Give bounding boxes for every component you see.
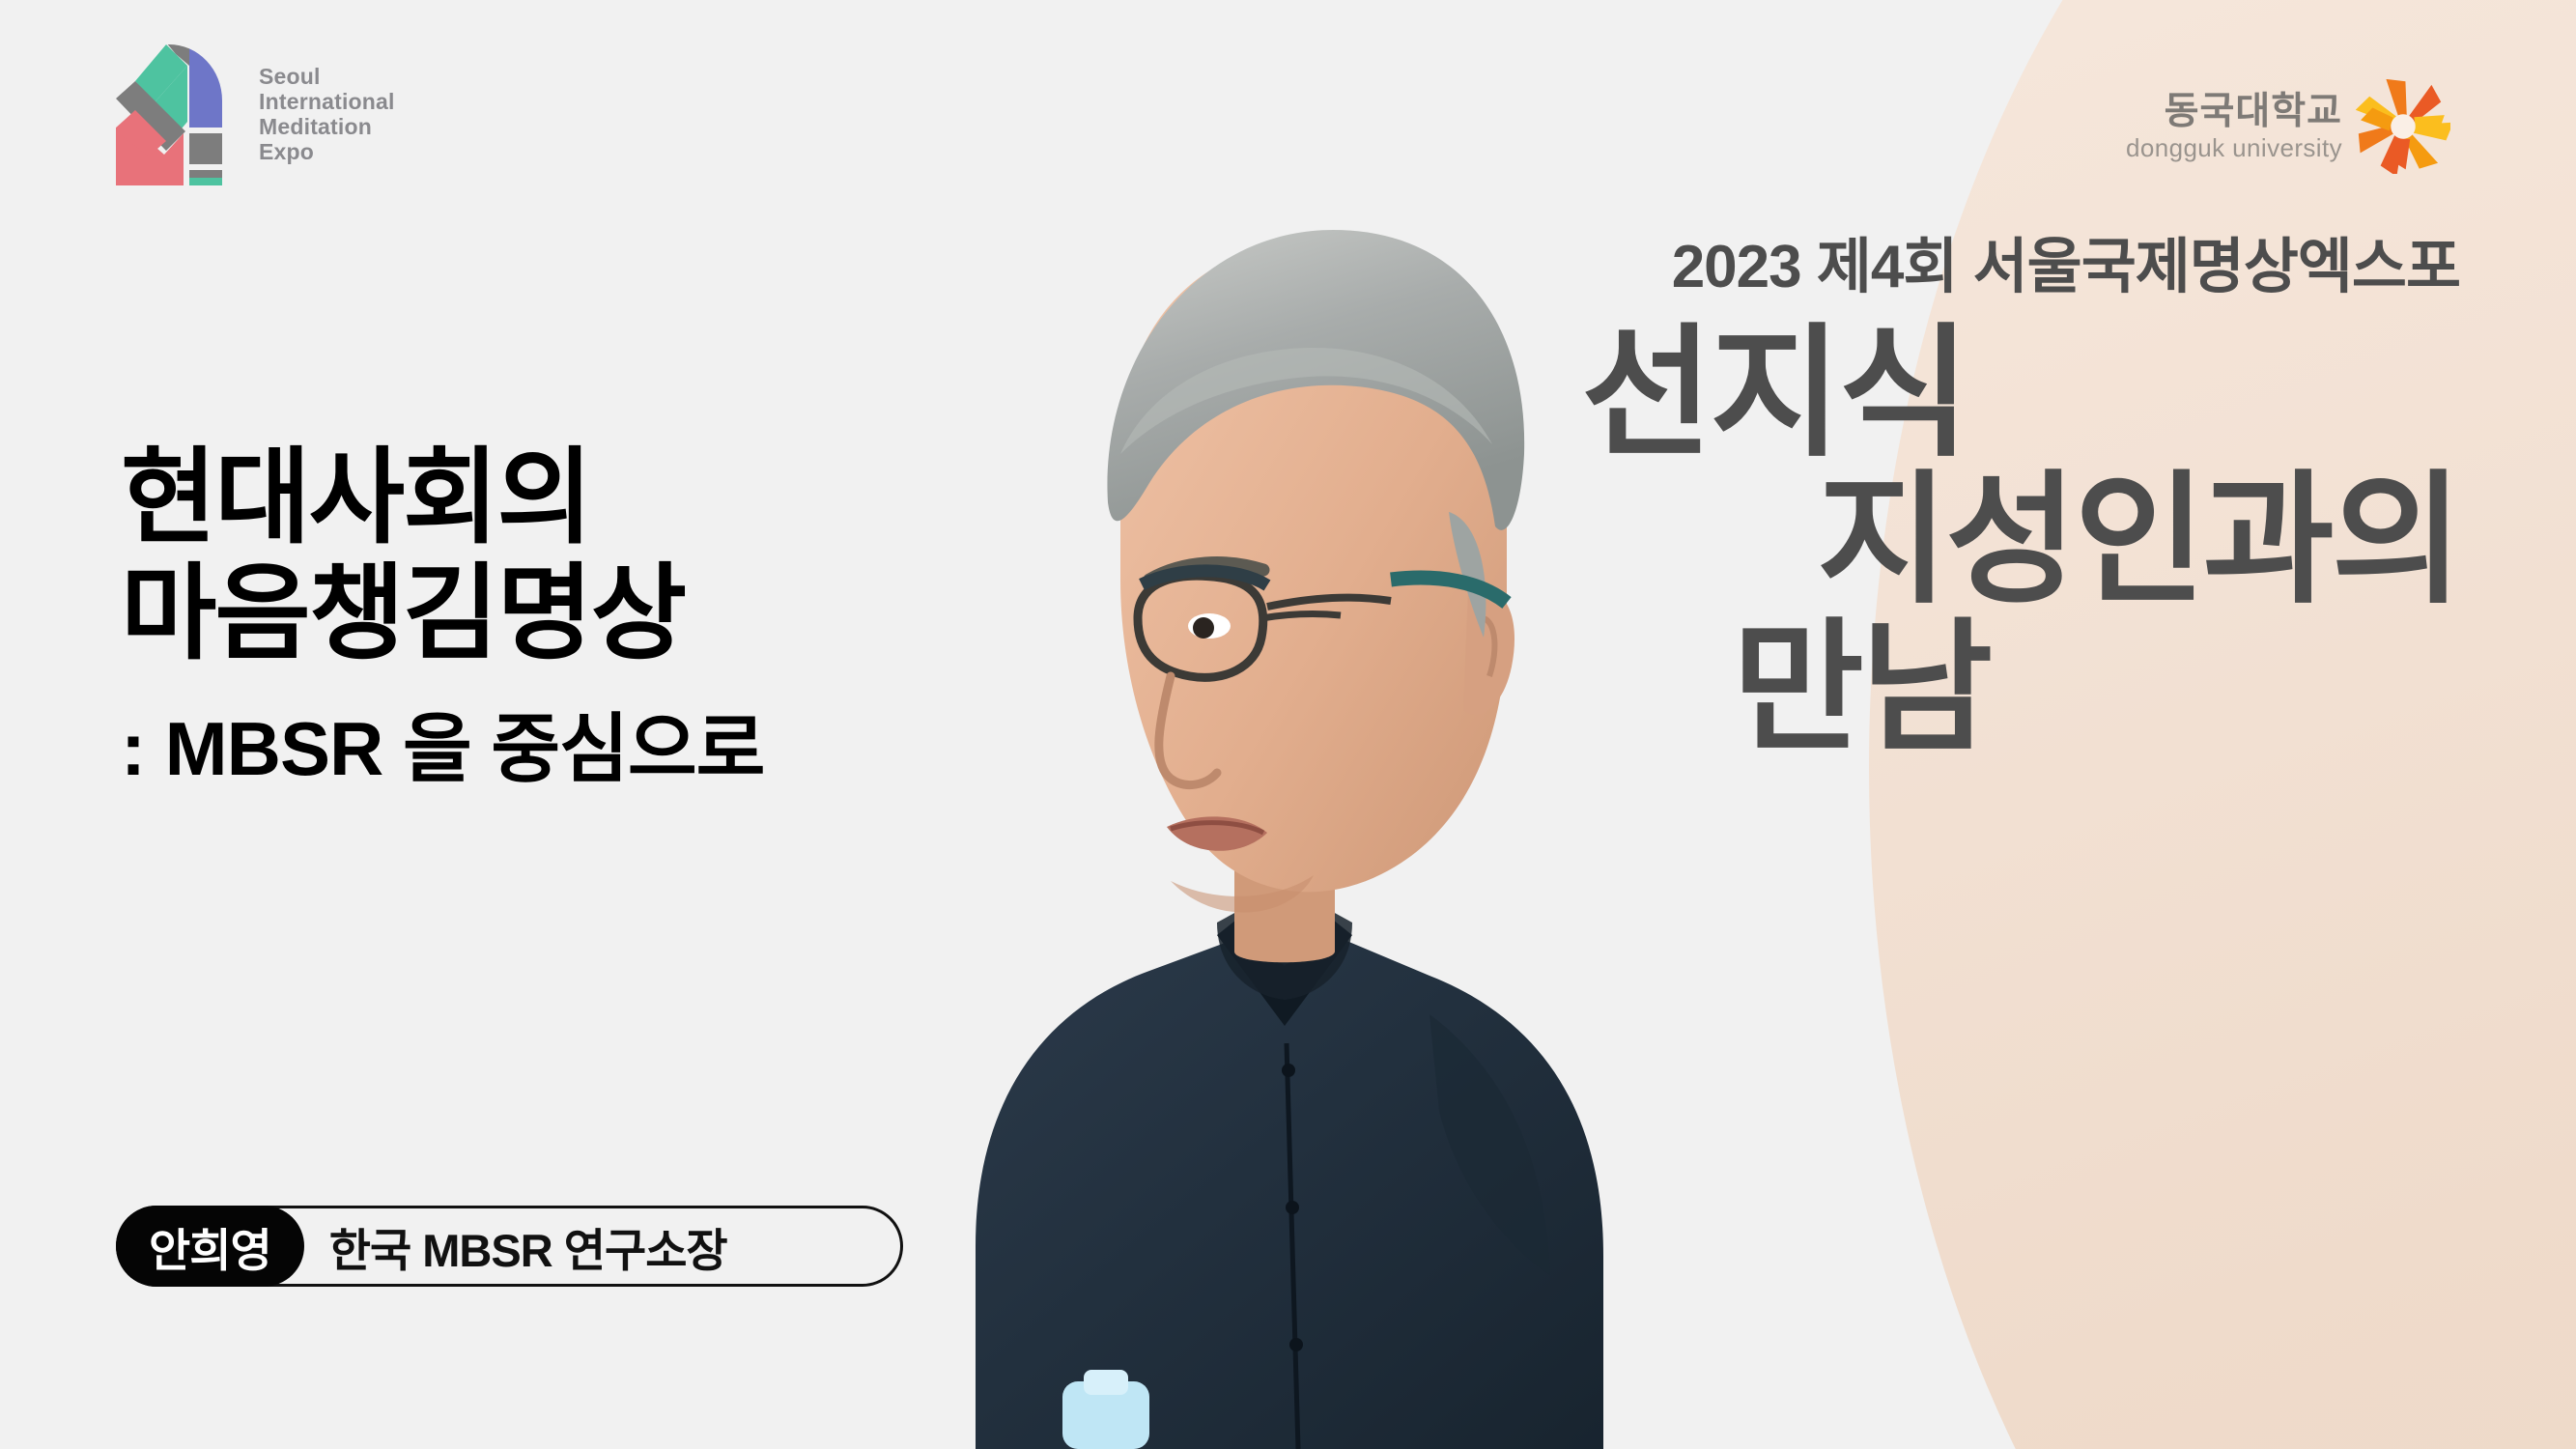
speaker-sleeve-fold	[1430, 1014, 1550, 1275]
speaker-nose	[1159, 676, 1217, 785]
shirt-button	[1289, 1338, 1303, 1351]
series-title: 선지식 지성인과의 만남	[1378, 321, 2460, 762]
speaker-lip-line	[1171, 823, 1263, 833]
sime-logo: Seoul International Meditation Expo	[106, 41, 386, 176]
sime-arch-mark	[106, 41, 251, 185]
speaker-collar	[1217, 920, 1352, 1026]
dongguk-university-logo: 동국대학교 dongguk university	[2126, 79, 2450, 174]
series-title-line-1: 선지식	[1378, 321, 2460, 468]
lecture-subtitle: : MBSR 을 중심으로	[121, 706, 764, 791]
speaker-neck	[1234, 831, 1335, 962]
shirt-button	[1286, 1201, 1299, 1214]
sime-line-2: International	[259, 89, 395, 114]
series-title-line-3: 만남	[1378, 615, 2460, 762]
poster-canvas: Seoul International Meditation Expo 동국대학…	[0, 0, 2576, 1449]
series-headline-block: 2023 제4회 서울국제명상엑스포 선지식 지성인과의 만남	[1378, 232, 2460, 762]
speaker-shirt	[976, 935, 1603, 1449]
dongguk-english-name: dongguk university	[2126, 133, 2342, 162]
dongguk-flower-icon	[2356, 79, 2450, 174]
lecture-title-line-2: 마음챙김명상	[121, 555, 764, 671]
lecture-headline-block: 현대사회의 마음챙김명상 : MBSR 을 중심으로	[121, 440, 764, 791]
speaker-badge: 안희영 한국 MBSR 연구소장	[116, 1206, 766, 1287]
dongguk-logo-text: 동국대학교 dongguk university	[2126, 91, 2342, 162]
shirt-button	[1282, 1064, 1295, 1077]
lecture-title-line-1: 현대사회의	[121, 440, 764, 555]
water-bottle-cap	[1084, 1370, 1128, 1395]
speaker-chin-shadow	[1171, 875, 1314, 913]
sime-line-3: Meditation	[259, 114, 395, 139]
sime-line-4: Expo	[259, 139, 395, 164]
sime-line-1: Seoul	[259, 64, 395, 89]
dongguk-korean-name: 동국대학교	[2126, 91, 2342, 133]
expo-edition-line: 2023 제4회 서울국제명상엑스포	[1378, 232, 2460, 303]
sime-logo-text: Seoul International Meditation Expo	[259, 64, 395, 164]
speaker-mandarin-collar	[1217, 912, 1352, 1000]
speaker-role: 한국 MBSR 연구소장	[304, 1206, 766, 1287]
water-bottle	[1062, 1381, 1149, 1449]
lecture-title: 현대사회의 마음챙김명상	[121, 440, 764, 671]
speaker-placket	[1287, 1043, 1298, 1449]
series-title-line-2: 지성인과의	[1378, 468, 2460, 614]
speaker-pupil	[1193, 617, 1214, 639]
speaker-eye-white	[1188, 613, 1231, 639]
speaker-eyebrow	[1149, 563, 1263, 580]
speaker-name: 안희영	[116, 1206, 304, 1287]
speaker-mouth	[1167, 816, 1267, 850]
